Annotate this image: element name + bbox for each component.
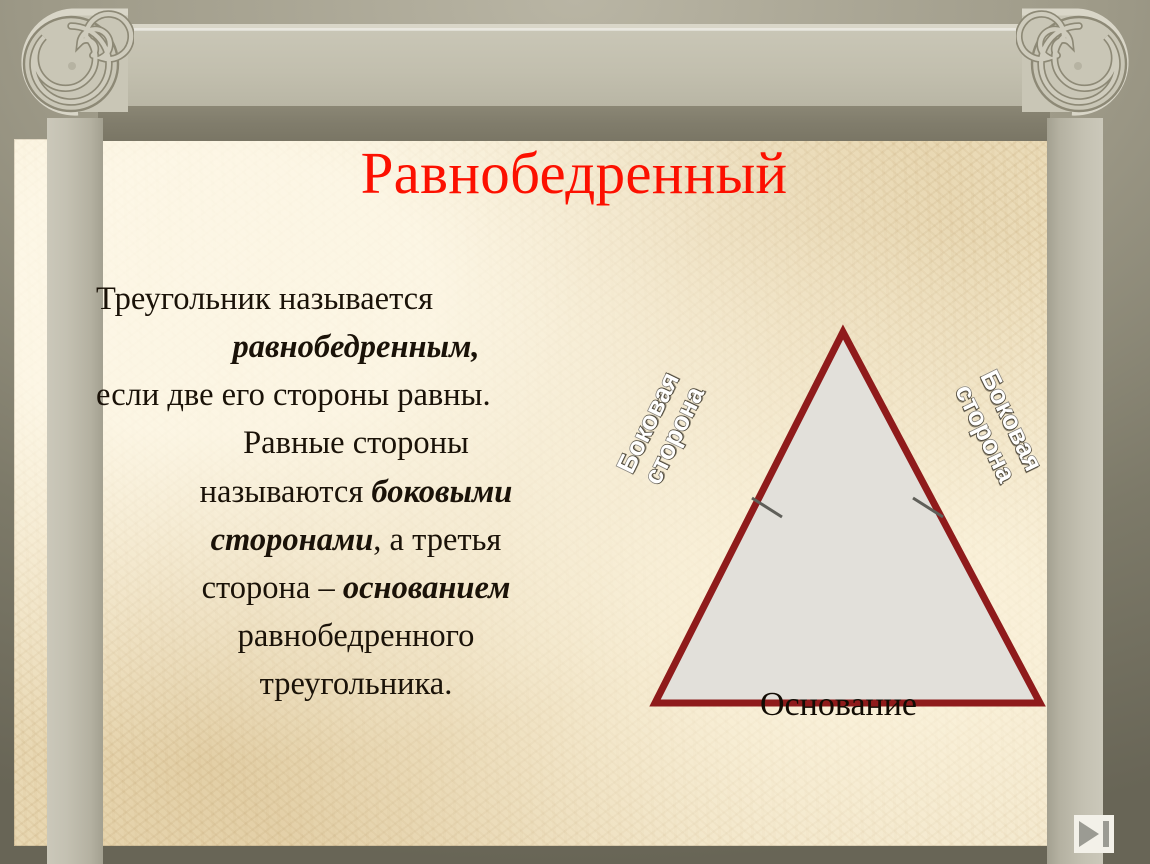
definition-line-6: сторонами, а третья bbox=[96, 517, 616, 563]
label-base: Основание bbox=[760, 686, 917, 724]
ionic-volute-right-icon bbox=[1016, 6, 1134, 134]
page-title: Равнобедренный bbox=[98, 143, 1050, 205]
definition-line-7-plain: сторона – bbox=[202, 570, 343, 606]
definition-line-5-plain: называются bbox=[200, 474, 372, 510]
play-triangle-icon bbox=[1079, 821, 1099, 847]
definition-line-8: равнобедренного bbox=[96, 613, 616, 659]
column-shaft-left bbox=[47, 118, 103, 864]
definition-line-7-emphasis: основанием bbox=[343, 570, 511, 606]
abacus-highlight-line bbox=[72, 28, 1078, 31]
isosceles-triangle-figure bbox=[600, 300, 1120, 740]
next-slide-button[interactable] bbox=[1074, 815, 1114, 853]
definition-line-5: называются боковыми bbox=[96, 469, 616, 515]
end-bar-icon bbox=[1103, 821, 1109, 847]
definition-line-7: сторона – основанием bbox=[96, 565, 616, 611]
ionic-volute-left-icon bbox=[16, 6, 134, 134]
abacus-band bbox=[72, 24, 1078, 106]
entablature-band bbox=[98, 100, 1050, 141]
definition-line-6-emphasis: сторонами bbox=[211, 522, 374, 558]
definition-line-2: равнобедренным, bbox=[96, 324, 616, 370]
definition-line-5-emphasis: боковыми bbox=[371, 474, 512, 510]
definition-line-4: Равные стороны bbox=[96, 420, 616, 466]
definition-line-1: Треугольник называется bbox=[96, 276, 616, 322]
slide-root: Равнобедренный Треугольник называется ра… bbox=[0, 0, 1150, 864]
definition-line-6-plain: , а третья bbox=[373, 522, 501, 558]
definition-line-3: если две его стороны равны. bbox=[96, 372, 616, 418]
definition-line-9: треугольника. bbox=[96, 661, 616, 707]
definition-text-block: Треугольник называется равнобедренным, е… bbox=[96, 276, 616, 709]
